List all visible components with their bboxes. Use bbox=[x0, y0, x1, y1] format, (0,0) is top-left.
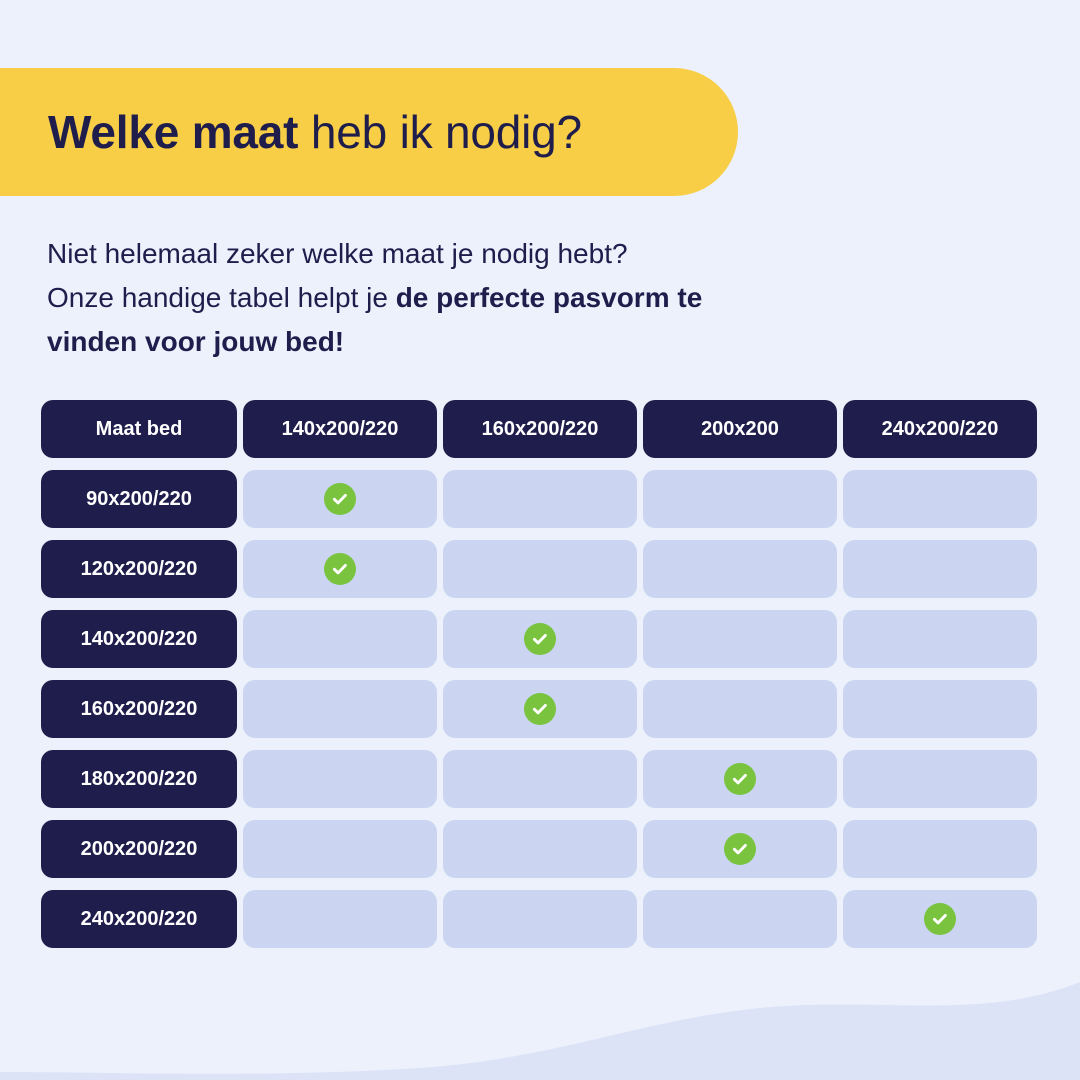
intro-line-3-bold: vinden voor jouw bed! bbox=[47, 326, 344, 357]
cell-r6-c3 bbox=[843, 890, 1037, 948]
check-circle-icon bbox=[724, 833, 756, 865]
intro-line-2-regular: Onze handige tabel helpt je bbox=[47, 282, 396, 313]
check-circle-icon bbox=[324, 553, 356, 585]
row-header-3: 160x200/220 bbox=[41, 680, 237, 738]
check-circle-icon bbox=[924, 903, 956, 935]
table-row: 200x200/220 bbox=[41, 820, 1040, 878]
column-header-maat-bed: Maat bed bbox=[41, 400, 237, 458]
cell-r5-c1 bbox=[443, 820, 637, 878]
table-row: 180x200/220 bbox=[41, 750, 1040, 808]
page-title-regular: heb ik nodig? bbox=[298, 106, 582, 158]
cell-r1-c2 bbox=[643, 540, 837, 598]
table-body: 90x200/220120x200/220140x200/220160x200/… bbox=[41, 470, 1040, 948]
cell-r2-c2 bbox=[643, 610, 837, 668]
check-circle-icon bbox=[524, 693, 556, 725]
cell-r0-c2 bbox=[643, 470, 837, 528]
title-banner: Welke maat heb ik nodig? bbox=[0, 68, 738, 196]
size-comparison-table: Maat bed 140x200/220 160x200/220 200x200… bbox=[41, 400, 1040, 948]
table-row: 140x200/220 bbox=[41, 610, 1040, 668]
cell-r0-c0 bbox=[243, 470, 437, 528]
row-header-4: 180x200/220 bbox=[41, 750, 237, 808]
bottom-wave-decoration bbox=[0, 960, 1080, 1080]
intro-line-2-bold: de perfecte pasvorm te bbox=[396, 282, 703, 313]
row-header-5: 200x200/220 bbox=[41, 820, 237, 878]
cell-r3-c1 bbox=[443, 680, 637, 738]
cell-r5-c3 bbox=[843, 820, 1037, 878]
table-header-row: Maat bed 140x200/220 160x200/220 200x200… bbox=[41, 400, 1040, 458]
page-title-bold: Welke maat bbox=[48, 106, 298, 158]
cell-r5-c2 bbox=[643, 820, 837, 878]
check-circle-icon bbox=[324, 483, 356, 515]
table-row: 240x200/220 bbox=[41, 890, 1040, 948]
cell-r3-c2 bbox=[643, 680, 837, 738]
cell-r4-c1 bbox=[443, 750, 637, 808]
row-header-2: 140x200/220 bbox=[41, 610, 237, 668]
cell-r1-c3 bbox=[843, 540, 1037, 598]
row-header-6: 240x200/220 bbox=[41, 890, 237, 948]
intro-line-1: Niet helemaal zeker welke maat je nodig … bbox=[47, 238, 628, 269]
cell-r6-c1 bbox=[443, 890, 637, 948]
cell-r6-c0 bbox=[243, 890, 437, 948]
cell-r1-c0 bbox=[243, 540, 437, 598]
cell-r2-c3 bbox=[843, 610, 1037, 668]
column-header-3: 200x200 bbox=[643, 400, 837, 458]
cell-r4-c2 bbox=[643, 750, 837, 808]
cell-r6-c2 bbox=[643, 890, 837, 948]
table-row: 160x200/220 bbox=[41, 680, 1040, 738]
cell-r2-c1 bbox=[443, 610, 637, 668]
table-row: 120x200/220 bbox=[41, 540, 1040, 598]
cell-r2-c0 bbox=[243, 610, 437, 668]
page-title: Welke maat heb ik nodig? bbox=[48, 109, 582, 155]
cell-r0-c1 bbox=[443, 470, 637, 528]
table-row: 90x200/220 bbox=[41, 470, 1040, 528]
cell-r3-c3 bbox=[843, 680, 1037, 738]
cell-r0-c3 bbox=[843, 470, 1037, 528]
cell-r4-c0 bbox=[243, 750, 437, 808]
cell-r4-c3 bbox=[843, 750, 1037, 808]
cell-r3-c0 bbox=[243, 680, 437, 738]
column-header-4: 240x200/220 bbox=[843, 400, 1037, 458]
intro-paragraph: Niet helemaal zeker welke maat je nodig … bbox=[47, 232, 907, 364]
column-header-1: 140x200/220 bbox=[243, 400, 437, 458]
cell-r5-c0 bbox=[243, 820, 437, 878]
column-header-2: 160x200/220 bbox=[443, 400, 637, 458]
check-circle-icon bbox=[724, 763, 756, 795]
check-circle-icon bbox=[524, 623, 556, 655]
cell-r1-c1 bbox=[443, 540, 637, 598]
row-header-0: 90x200/220 bbox=[41, 470, 237, 528]
row-header-1: 120x200/220 bbox=[41, 540, 237, 598]
